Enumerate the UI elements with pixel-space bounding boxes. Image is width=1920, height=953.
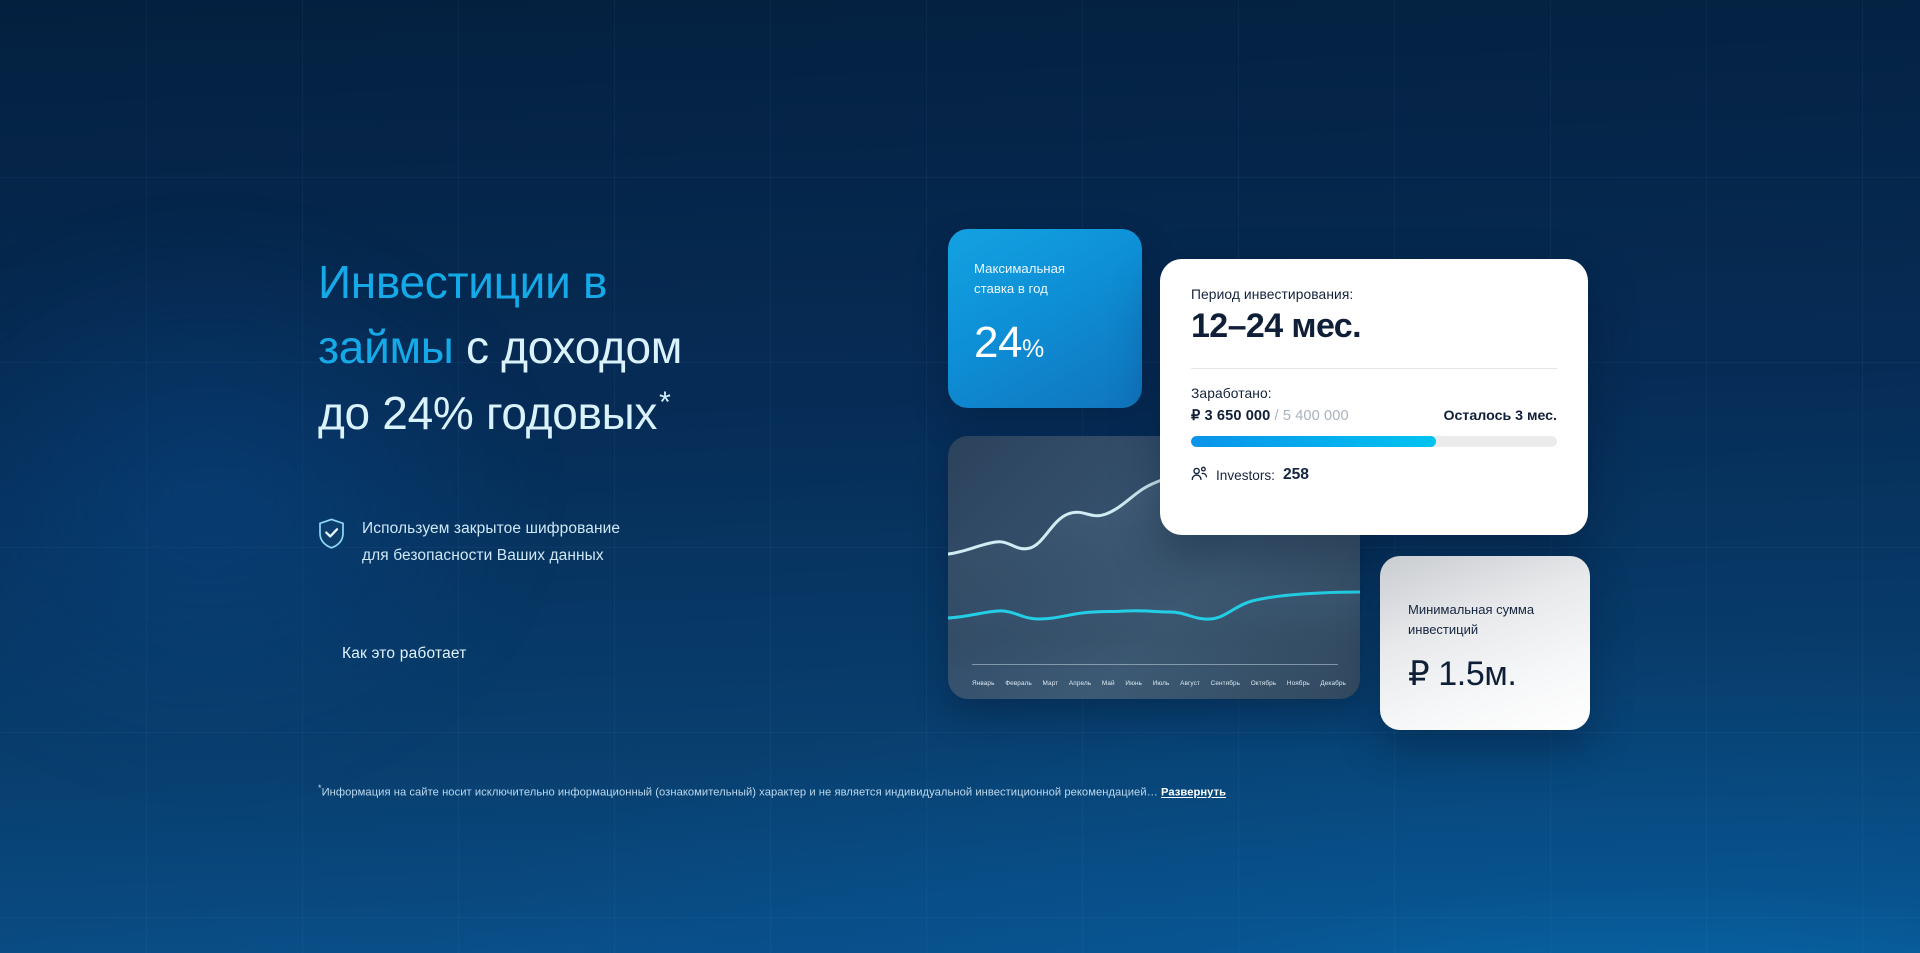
security-note-line-2: для безопасности Ваших данных [362, 543, 620, 570]
chart-tick-label: Декабрь [1320, 680, 1346, 687]
headline-asterisk: * [659, 386, 670, 419]
earned-current: ₽ 3 650 000 [1191, 408, 1270, 424]
period-value: 12–24 мес. [1191, 307, 1557, 346]
investors-label: Investors: [1216, 468, 1275, 483]
min-investment-label: Минимальная сумма инвестиций [1408, 600, 1590, 641]
investment-period-card[interactable]: Период инвестирования: 12–24 мес. Зарабо… [1160, 259, 1588, 535]
headline-line-1: Инвестиции в [318, 256, 607, 308]
earned-total: 5 400 000 [1283, 408, 1349, 424]
time-remaining: Осталось 3 мес. [1444, 408, 1558, 424]
period-label: Период инвестирования: [1191, 287, 1557, 302]
min-investment-card[interactable]: Минимальная сумма инвестиций ₽ 1.5м. [1380, 556, 1590, 730]
security-note: Используем закрытое шифрование для безоп… [318, 516, 620, 569]
shield-check-icon [318, 518, 345, 549]
background-glow [0, 120, 660, 880]
investors-row: Investors: 258 [1191, 466, 1557, 484]
investors-count: 258 [1283, 466, 1309, 484]
chart-tick-label: Октябрь [1251, 680, 1276, 687]
earned-separator: / [1270, 408, 1282, 424]
chart-tick-label: Февраль [1005, 680, 1032, 687]
footnote-text: Информация на сайте носит исключительно … [322, 787, 1161, 799]
chart-axis-line [972, 664, 1338, 665]
max-rate-label-line-1: Максимальная [974, 259, 1116, 279]
chart-tick-label: Апрель [1069, 680, 1091, 687]
card-divider [1191, 368, 1557, 369]
how-it-works-button[interactable]: Как это работает [342, 645, 467, 663]
chart-month-labels: Январь Февраль Март Апрель Май Июнь Июль… [972, 680, 1346, 687]
chart-tick-label: Сентябрь [1211, 680, 1240, 687]
chart-tick-label: Июнь [1125, 680, 1142, 687]
security-note-line-1: Используем закрытое шифрование [362, 516, 620, 543]
chart-tick-label: Январь [972, 680, 995, 687]
max-rate-card[interactable]: Максимальная ставка в год 24% [948, 229, 1142, 408]
max-rate-number: 24 [974, 318, 1022, 367]
progress-bar-fill [1191, 436, 1436, 447]
users-icon [1191, 466, 1208, 484]
hero-text-block: Инвестиции в займы с доходом до 24% годо… [318, 250, 838, 446]
min-investment-label-line-2: инвестиций [1408, 620, 1590, 640]
headline-line-3: до 24% годовых [318, 387, 657, 439]
footnote: *Информация на сайте носит исключительно… [318, 782, 1318, 801]
chart-tick-label: Август [1180, 680, 1200, 687]
headline-line-2-rest: с доходом [454, 321, 683, 373]
earned-row: ₽ 3 650 000 / 5 400 000 Осталось 3 мес. [1191, 407, 1557, 424]
chart-tick-label: Май [1102, 680, 1115, 687]
progress-bar-track [1191, 436, 1557, 447]
min-investment-value: ₽ 1.5м. [1408, 654, 1590, 694]
min-investment-label-line-1: Минимальная сумма [1408, 600, 1590, 620]
page-title: Инвестиции в займы с доходом до 24% годо… [318, 250, 838, 446]
chart-tick-label: Июль [1153, 680, 1170, 687]
headline-line-2-accent: займы [318, 321, 454, 373]
max-rate-unit: % [1022, 335, 1044, 363]
max-rate-label-line-2: ставка в год [974, 279, 1116, 299]
earned-label: Заработано: [1191, 386, 1557, 401]
chart-tick-label: Ноябрь [1287, 680, 1310, 687]
security-note-text: Используем закрытое шифрование для безоп… [362, 516, 620, 569]
footnote-expand-link[interactable]: Развернуть [1161, 787, 1226, 799]
max-rate-value: 24% [974, 318, 1116, 368]
chart-tick-label: Март [1043, 680, 1059, 687]
max-rate-label: Максимальная ставка в год [974, 259, 1116, 300]
earned-amount: ₽ 3 650 000 / 5 400 000 [1191, 407, 1349, 424]
